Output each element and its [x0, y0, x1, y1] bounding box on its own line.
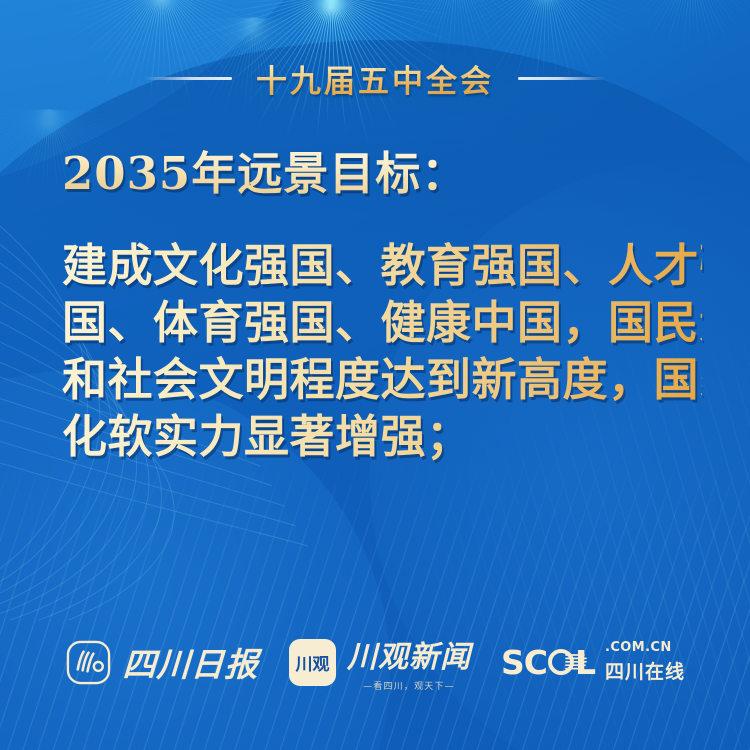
logo-sichuan-daily[interactable]: 四川日报: [65, 638, 259, 686]
scol-globe-rays-icon: [565, 652, 587, 672]
headline-title: 2035年远景目标：: [62, 150, 702, 199]
chuanguan-wordmark: 川观新闻: [347, 632, 471, 676]
poster-canvas: 十九届五中全会 2035年远景目标： 建成文化强国、教育强国、人才强 国、体育强…: [0, 0, 750, 750]
chuanguan-badge-label: 川观: [295, 650, 329, 675]
paragraph-line: 化软实力显著增强；: [62, 408, 702, 465]
paragraph-line: 建成文化强国、教育强国、人才强: [62, 237, 702, 294]
main-content: 2035年远景目标： 建成文化强国、教育强国、人才强 国、体育强国、健康中国，国…: [62, 150, 702, 465]
chuanguan-badge-icon: 川观: [289, 639, 336, 686]
paragraph-line: 国、体育强国、健康中国，国民素质: [62, 294, 702, 351]
paragraph-line: 和社会文明程度达到新高度，国家文: [62, 351, 702, 408]
header: 十九届五中全会: [0, 56, 750, 101]
logo-scol[interactable]: SC L .COM.CN 四川在线: [501, 640, 685, 684]
sichuan-daily-mark-icon: [65, 639, 112, 686]
scol-domain: .COM.CN: [605, 640, 685, 655]
firework-burst-icon: [690, 0, 692, 54]
logo-chuanguan-news[interactable]: 川观 川观新闻 —看四川，观天下—: [289, 632, 471, 692]
paragraph-block: 建成文化强国、教育强国、人才强 国、体育强国、健康中国，国民素质 和社会文明程度…: [62, 237, 702, 466]
header-title: 十九届五中全会: [256, 56, 494, 101]
header-rule-left: [144, 77, 232, 80]
scol-wordmark: SC L: [501, 643, 595, 682]
footer-logo-bar: 四川日报 川观 川观新闻 —看四川，观天下— SC: [0, 632, 750, 692]
sichuan-daily-wordmark: 四川日报: [122, 638, 261, 686]
scol-letter-s: SC: [501, 643, 547, 682]
header-rule-right: [518, 77, 606, 80]
chuanguan-tagline: —看四川，观天下—: [363, 679, 455, 692]
scol-globe-icon: [548, 649, 574, 675]
scol-chinese-name: 四川在线: [605, 657, 685, 684]
